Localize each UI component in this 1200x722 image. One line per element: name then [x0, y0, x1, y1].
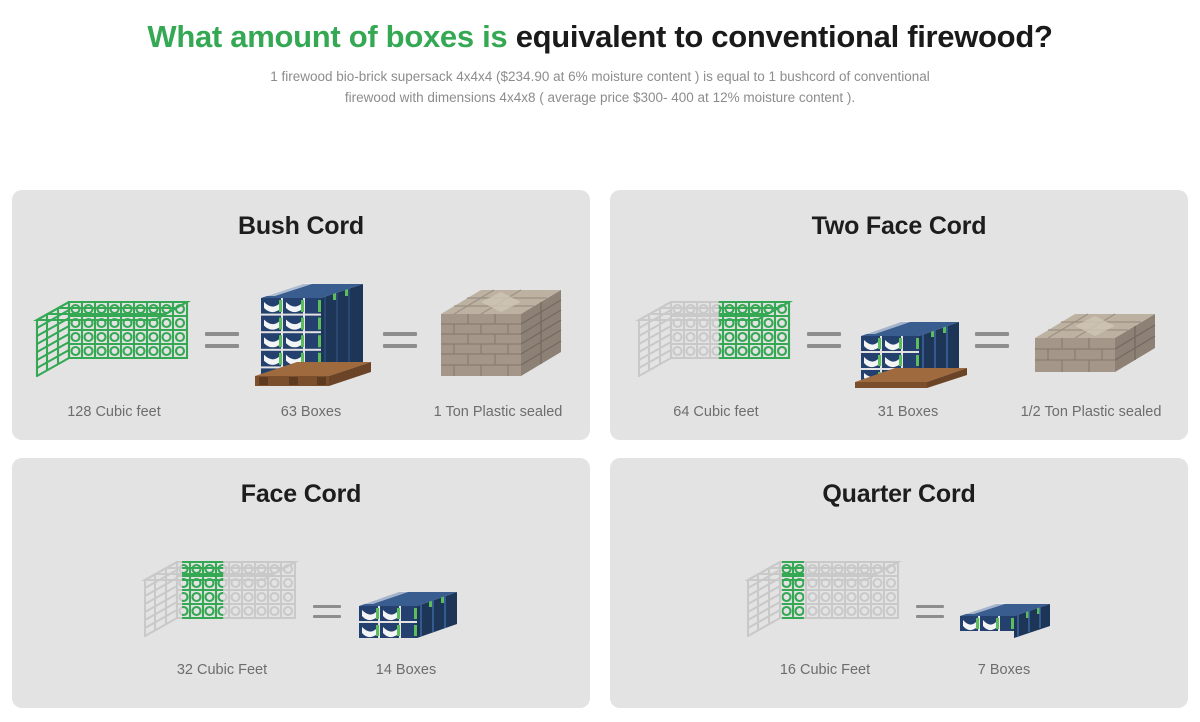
equals-icon — [313, 605, 341, 618]
page-title-rest: equivalent to conventional firewood? — [516, 19, 1053, 54]
card-bush-cord: Bush Cord — [12, 190, 590, 440]
box-stack-icon — [347, 576, 465, 648]
item-caption: 14 Boxes — [376, 662, 436, 678]
page-header: What amount of boxes is equivalent to co… — [0, 0, 1200, 109]
cell-bricks — [1015, 302, 1167, 388]
equals-icon — [383, 332, 417, 348]
cell-firewood — [137, 540, 307, 648]
item-caption: 7 Boxes — [978, 662, 1030, 678]
item-caption: 128 Cubic feet — [67, 404, 161, 420]
card-caption-row: 16 Cubic Feet 7 Boxes — [610, 654, 1188, 678]
card-face-cord: Face Cord — [12, 458, 590, 708]
page-subtitle-line-1: 1 firewood bio-brick supersack 4x4x4 ($2… — [205, 67, 995, 88]
brick-block-icon — [423, 280, 573, 388]
card-visual-row — [610, 268, 1188, 388]
item-caption: 1 Ton Plastic sealed — [434, 404, 563, 420]
box-stack-icon — [950, 594, 1058, 648]
card-visual-row — [610, 538, 1188, 648]
item-caption: 1/2 Ton Plastic sealed — [1021, 404, 1162, 420]
brick-block-icon — [1015, 302, 1167, 388]
equals-icon — [916, 605, 944, 618]
cell-bricks — [423, 280, 573, 388]
cell-boxes — [347, 576, 465, 648]
cell-firewood — [631, 280, 801, 388]
card-visual-row — [12, 538, 590, 648]
card-caption-row: 128 Cubic feet 63 Boxes 1 Ton Plastic se… — [12, 396, 590, 420]
card-caption-row: 32 Cubic Feet 14 Boxes — [12, 654, 590, 678]
card-title: Two Face Cord — [610, 212, 1188, 241]
item-caption: 31 Boxes — [878, 404, 938, 420]
box-pallet-icon — [847, 292, 969, 388]
box-pallet-icon — [245, 276, 377, 388]
cord-comparison-grid: Bush Cord — [12, 190, 1188, 708]
card-title: Quarter Cord — [610, 480, 1188, 509]
firewood-stack-icon — [631, 280, 801, 388]
equals-icon — [975, 332, 1009, 348]
cell-boxes — [245, 276, 377, 388]
card-title: Bush Cord — [12, 212, 590, 241]
cell-firewood — [740, 540, 910, 648]
page-title-highlight: What amount of boxes is — [147, 19, 507, 54]
page-subtitle: 1 firewood bio-brick supersack 4x4x4 ($2… — [205, 67, 995, 109]
item-caption: 16 Cubic Feet — [780, 662, 870, 678]
equals-icon — [807, 332, 841, 348]
card-two-face-cord: Two Face Cord — [610, 190, 1188, 440]
card-visual-row — [12, 268, 590, 388]
card-quarter-cord: Quarter Cord — [610, 458, 1188, 708]
item-caption: 63 Boxes — [281, 404, 341, 420]
card-title: Face Cord — [12, 480, 590, 509]
item-caption: 32 Cubic Feet — [177, 662, 267, 678]
cell-firewood — [29, 280, 199, 388]
cell-boxes — [847, 292, 969, 388]
card-caption-row: 64 Cubic feet 31 Boxes 1/2 Ton Plastic s… — [610, 396, 1188, 420]
page-subtitle-line-2: firewood with dimensions 4x4x8 ( average… — [205, 88, 995, 109]
cell-boxes — [950, 594, 1058, 648]
firewood-stack-icon — [137, 540, 307, 648]
firewood-stack-icon — [29, 280, 199, 388]
item-caption: 64 Cubic feet — [673, 404, 758, 420]
firewood-stack-icon — [740, 540, 910, 648]
equals-icon — [205, 332, 239, 348]
page-title: What amount of boxes is equivalent to co… — [60, 18, 1140, 55]
